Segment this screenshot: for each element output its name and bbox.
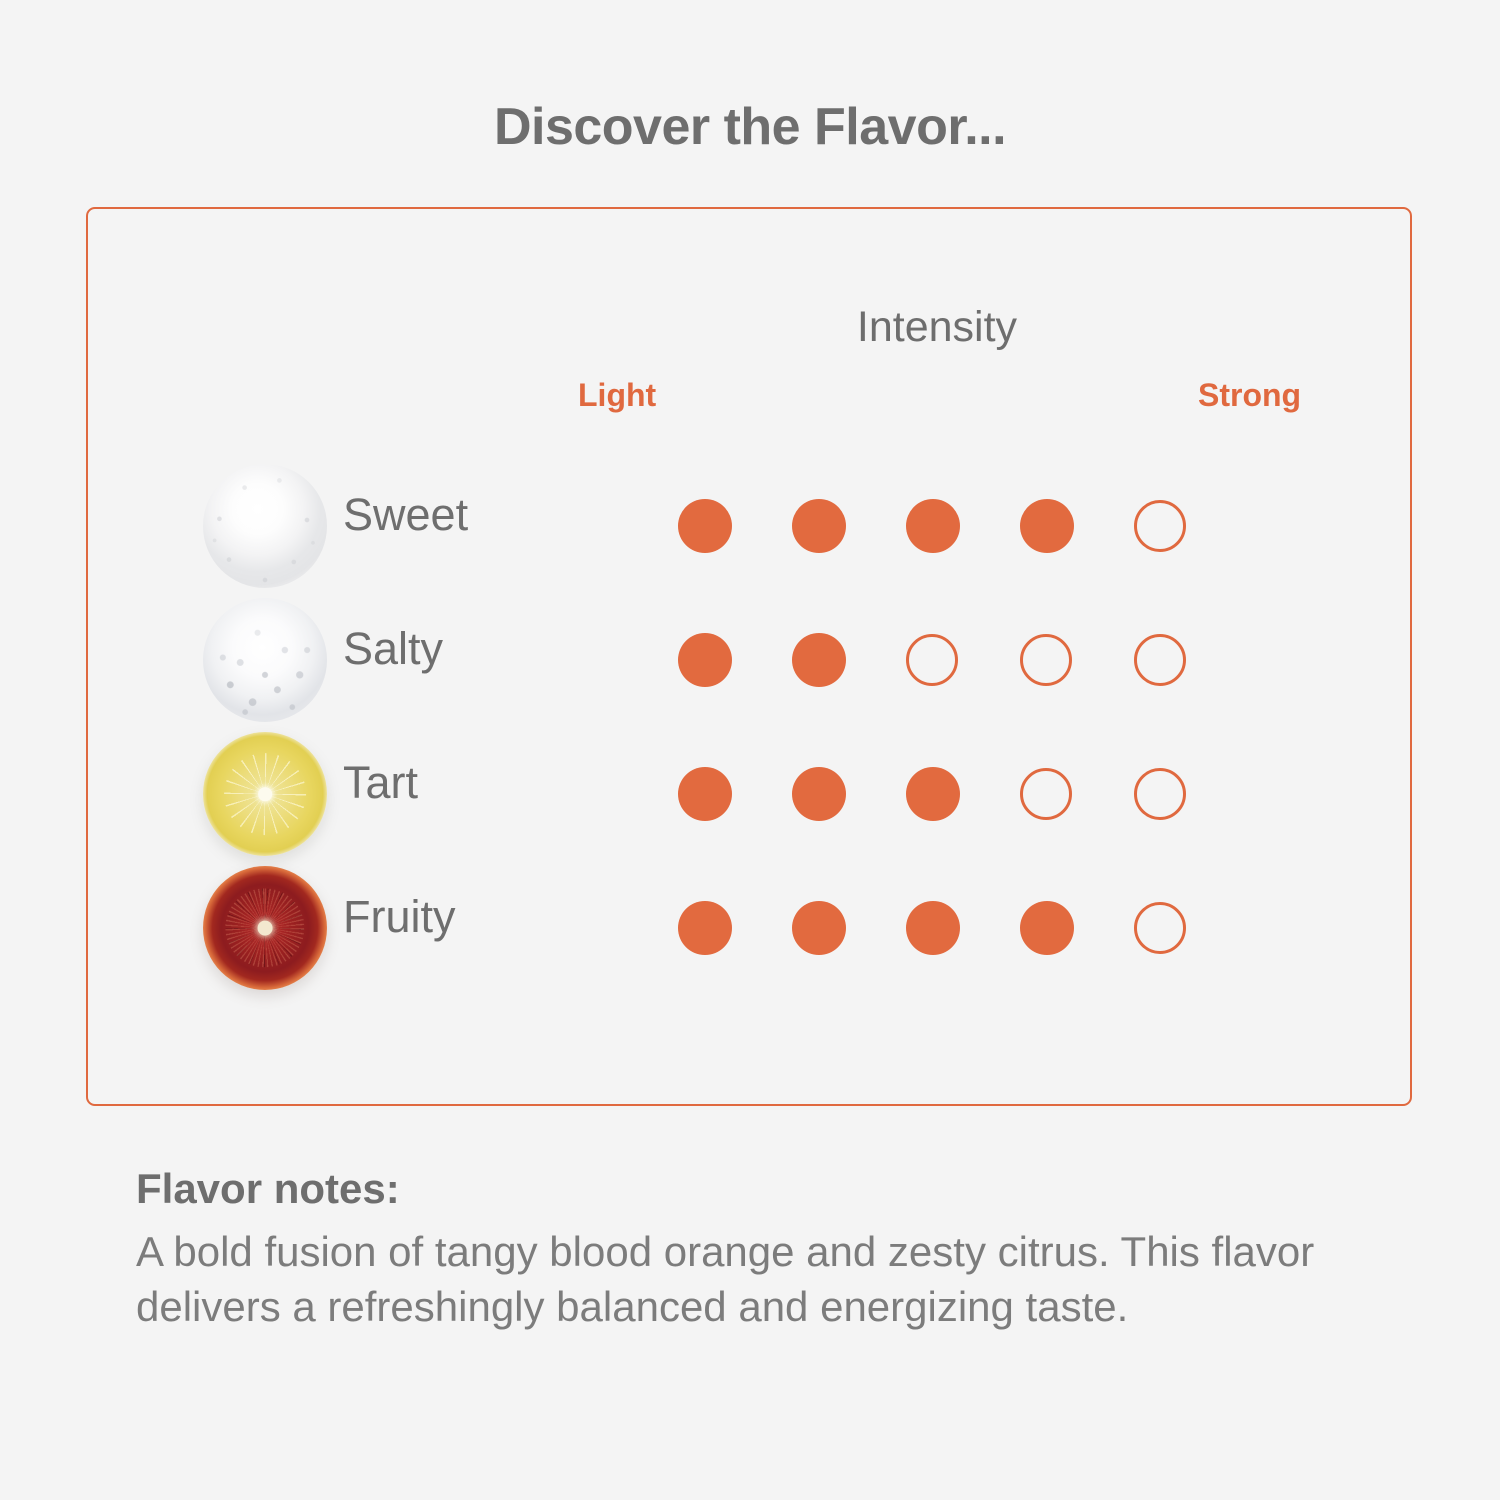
flavor-label-sweet: Sweet bbox=[343, 492, 468, 537]
rating-dot-1 bbox=[678, 767, 732, 821]
rating-dot-4 bbox=[1020, 901, 1074, 955]
rating-dot-5 bbox=[1134, 500, 1186, 552]
flavor-label-fruity: Fruity bbox=[343, 894, 456, 939]
rating-dot-4 bbox=[1020, 768, 1072, 820]
rating-dot-4 bbox=[1020, 634, 1072, 686]
rating-dot-1 bbox=[678, 499, 732, 553]
rating-dot-5 bbox=[1134, 768, 1186, 820]
salt-icon bbox=[203, 598, 327, 722]
rating-dot-2 bbox=[792, 767, 846, 821]
flavor-row-fruity: Fruity bbox=[0, 866, 1500, 990]
flavor-notes: Flavor notes: A bold fusion of tangy blo… bbox=[136, 1163, 1426, 1335]
rating-dot-2 bbox=[792, 901, 846, 955]
lemon-slice-icon bbox=[203, 732, 327, 856]
flavor-row-tart: Tart bbox=[0, 732, 1500, 856]
flavor-notes-body: A bold fusion of tangy blood orange and … bbox=[136, 1224, 1386, 1336]
rating-dot-2 bbox=[792, 499, 846, 553]
rating-dot-3 bbox=[906, 767, 960, 821]
rating-dot-4 bbox=[1020, 499, 1074, 553]
flavor-label-tart: Tart bbox=[343, 760, 418, 805]
rating-dot-3 bbox=[906, 499, 960, 553]
blood-orange-icon bbox=[203, 866, 327, 990]
flavor-notes-heading: Flavor notes: bbox=[136, 1163, 1426, 1216]
rating-dot-5 bbox=[1134, 634, 1186, 686]
flavor-row-salty: Salty bbox=[0, 598, 1500, 722]
flavor-label-salty: Salty bbox=[343, 626, 443, 671]
rating-dot-2 bbox=[792, 633, 846, 687]
rating-dots-salty bbox=[678, 632, 1198, 690]
flavor-profile-page: Discover the Flavor... Intensity Light S… bbox=[0, 0, 1500, 1500]
rating-dot-1 bbox=[678, 633, 732, 687]
sugar-icon bbox=[203, 464, 327, 588]
rating-dot-5 bbox=[1134, 902, 1186, 954]
rating-dots-sweet bbox=[678, 498, 1198, 556]
rating-dots-tart bbox=[678, 766, 1198, 824]
rating-dot-1 bbox=[678, 901, 732, 955]
rating-dot-3 bbox=[906, 634, 958, 686]
rating-dot-3 bbox=[906, 901, 960, 955]
rating-dots-fruity bbox=[678, 900, 1198, 958]
flavor-row-sweet: Sweet bbox=[0, 464, 1500, 588]
